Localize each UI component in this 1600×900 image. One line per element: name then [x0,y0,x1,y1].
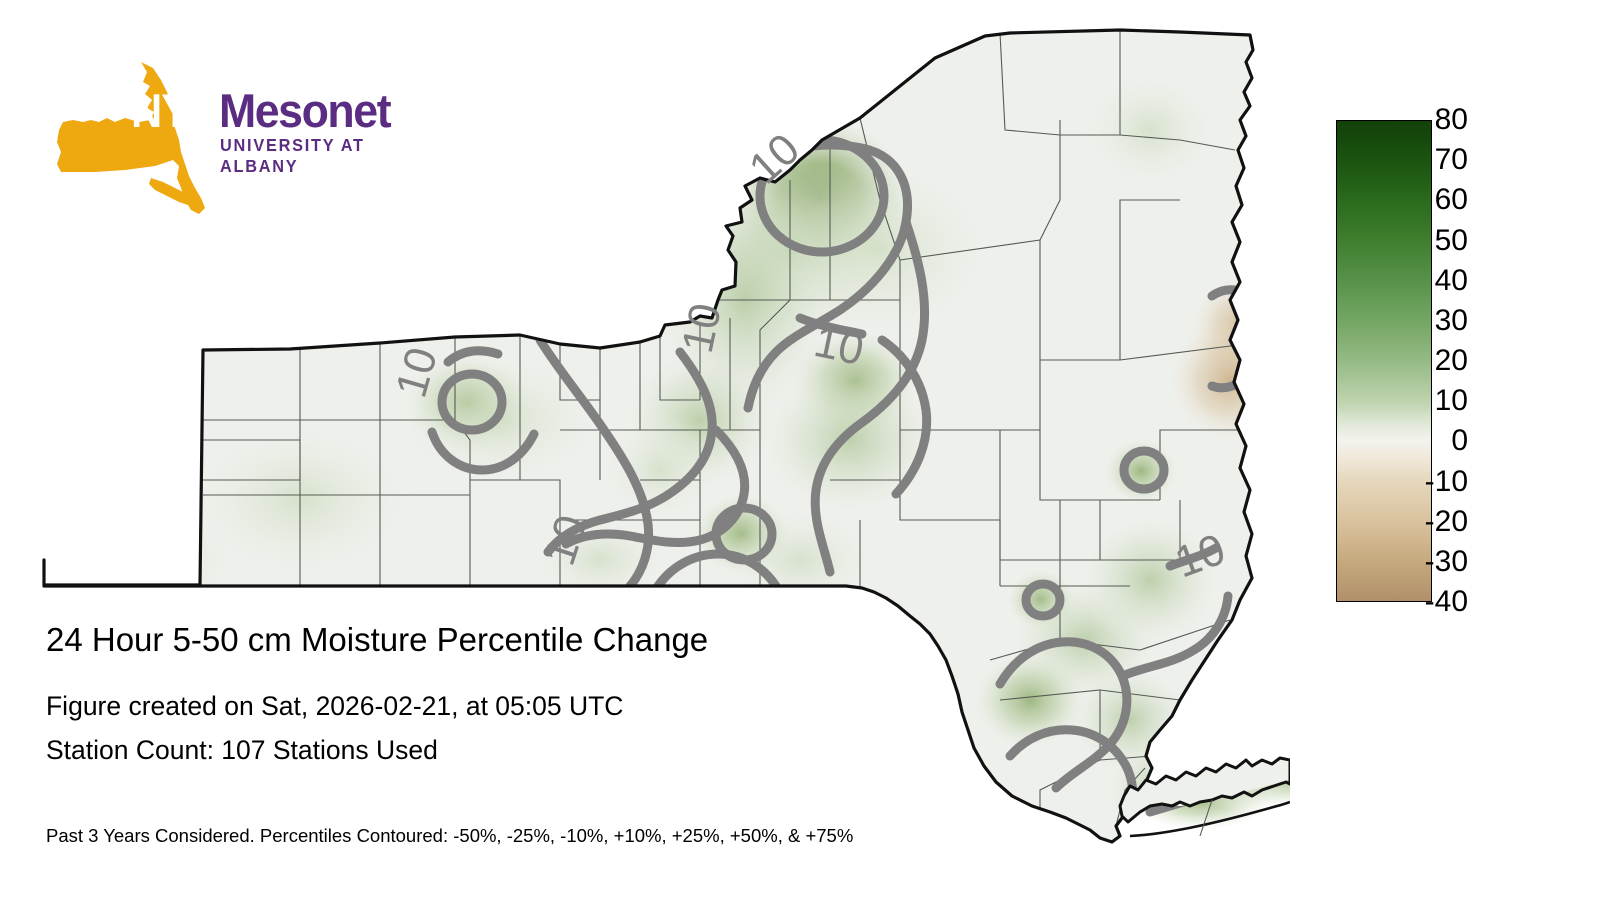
colorbar-tick-50: 50 [1435,226,1468,256]
colorbar-tick-0: 0 [1451,426,1468,456]
colorbar-tick-neg40: -40 [1425,587,1468,617]
colorbar-tick-labels: 80706050403020100-10-20-30-40 [1440,108,1510,618]
hotspot-sw-corner [60,510,240,610]
colorbar-tick-neg20: -20 [1425,507,1468,537]
colorbar-tick-60: 60 [1435,185,1468,215]
hotspot-ontario-co [600,415,720,525]
colorbar-tick-70: 70 [1435,145,1468,175]
logo-tagline-text: UNIVERSITY AT ALBANY [220,135,388,177]
colorbar-tick-80: 80 [1435,105,1468,135]
logo-mesonet-text: Mesonet [219,83,390,138]
colorbar-tick-10: 10 [1435,386,1468,416]
colorbar-tick-30: 30 [1435,306,1468,336]
logo-wordmark: NYS Mesonet UNIVERSITY AT ALBANY [131,83,401,188]
figure-title: 24 Hour 5-50 cm Moisture Percentile Chan… [46,620,1146,660]
colorbar-tick-neg10: -10 [1425,467,1468,497]
colorbar-tick-20: 20 [1435,346,1468,376]
hotspot-madison [760,365,940,515]
hotspot-clinton [1080,70,1220,190]
figure-footnote: Past 3 Years Considered. Percentiles Con… [46,824,853,848]
figure-caption-block: 24 Hour 5-50 cm Moisture Percentile Chan… [46,620,1146,772]
contour-label: 10 [673,299,731,357]
colorbar-tick-neg30: -30 [1425,547,1468,577]
logo-nys-text: NYS [131,83,217,138]
nys-mesonet-logo: NYS Mesonet UNIVERSITY AT ALBANY [55,60,400,215]
contour-label: 10 [810,317,868,375]
station-count-line: Station Count: 107 Stations Used [46,728,1146,772]
colorbar [1336,120,1432,602]
figure-created-line: Figure created on Sat, 2026-02-21, at 05… [46,684,1146,728]
colorbar-tick-40: 40 [1435,266,1468,296]
